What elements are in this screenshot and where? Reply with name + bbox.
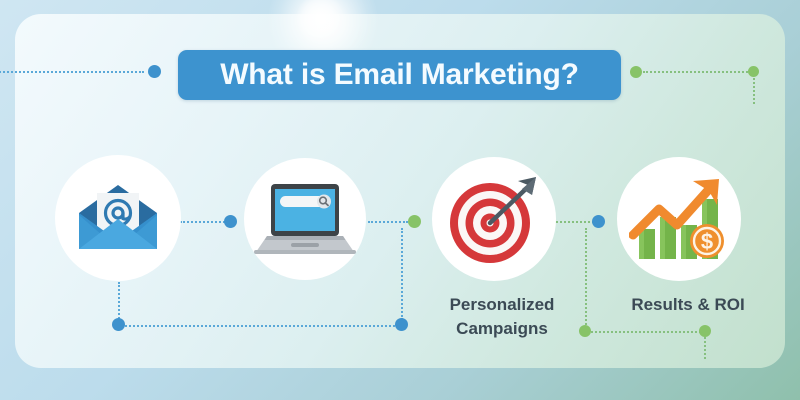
connector-lower-green-drop xyxy=(704,337,706,359)
connector-dot-lower-green-right xyxy=(699,325,711,337)
step-label-results-line1: Results & ROI xyxy=(600,293,776,317)
step-label-campaigns: Personalized Campaigns xyxy=(414,293,590,341)
connector-laptop-to-target xyxy=(368,221,408,223)
connector-dot-email-laptop xyxy=(224,215,237,228)
connector-top-right-line xyxy=(643,71,751,73)
connector-dot-lower-mid xyxy=(395,318,408,331)
connector-dot-top-right xyxy=(630,66,642,78)
page-title: What is Email Marketing? xyxy=(220,58,579,92)
step-label-results: Results & ROI xyxy=(600,293,776,317)
connector-email-to-laptop xyxy=(180,221,225,223)
step-icon-circle-campaigns xyxy=(432,157,556,281)
connector-dot-laptop-target xyxy=(408,215,421,228)
step-label-campaigns-line1: Personalized xyxy=(414,293,590,317)
step-icon-circle-results: $ xyxy=(617,157,741,281)
target-arrow-icon xyxy=(444,171,544,267)
open-envelope-at-icon xyxy=(75,183,161,253)
connector-email-drop xyxy=(118,282,120,322)
connector-lower-green-line xyxy=(591,331,701,333)
page-title-bar: What is Email Marketing? xyxy=(178,50,621,100)
connector-laptop-drop xyxy=(401,228,403,320)
connector-dot-top-left xyxy=(148,65,161,78)
step-icon-circle-website xyxy=(244,158,366,280)
infographic-canvas: What is Email Marketing? xyxy=(0,0,800,400)
connector-lower-blue-line xyxy=(125,325,395,327)
step-label-campaigns-line2: Campaigns xyxy=(414,317,590,341)
step-icon-circle-email xyxy=(55,155,181,281)
svg-text:$: $ xyxy=(701,229,713,254)
connector-top-right-drop xyxy=(753,78,755,104)
connector-target-to-chart xyxy=(556,221,594,223)
connector-top-left-line xyxy=(0,71,144,73)
connector-dot-target-chart xyxy=(592,215,605,228)
laptop-search-icon xyxy=(253,180,357,258)
connector-dot-lower-left xyxy=(112,318,125,331)
growth-chart-dollar-icon: $ xyxy=(629,173,729,265)
connector-dot-top-right-end xyxy=(748,66,759,77)
